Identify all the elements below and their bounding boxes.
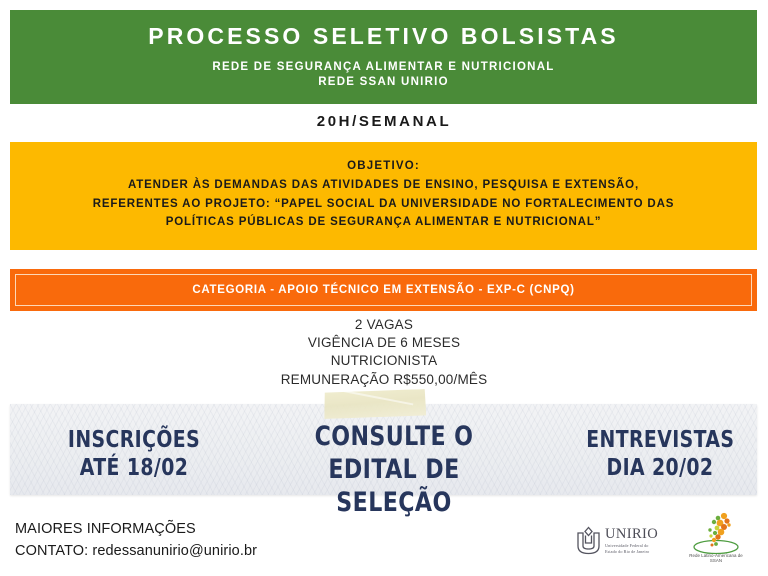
category-inner-frame: CATEGORIA - APOIO TÉCNICO EM EXTENSÃO - … [15,274,752,306]
poster-canvas: PROCESSO SELETIVO BOLSISTAS REDE DE SEGU… [0,0,768,576]
footer-contact-block: MAIORES INFORMAÇÕES CONTATO: redessanuni… [15,519,257,563]
objective-label: OBJETIVO: [347,160,420,172]
consult-notice-line2: EDITAL DE SELEÇÃO [283,454,504,520]
registration-deadline-line1: INSCRIÇÕES [60,426,208,454]
header-subtitle-network: REDE DE SEGURANÇA ALIMENTAR E NUTRICIONA… [212,60,554,76]
footer-contact-email: CONTATO: redessanunirio@unirio.br [15,541,257,563]
detail-duration: VIGÊNCIA DE 6 MESES [0,334,768,352]
category-label: CATEGORIA - APOIO TÉCNICO EM EXTENSÃO - … [192,284,574,296]
objective-band: OBJETIVO: ATENDER ÀS DEMANDAS DAS ATIVID… [10,142,757,250]
header-subtitle-unit: REDE SSAN UNIRIO [318,75,449,91]
details-list: 2 VAGAS VIGÊNCIA DE 6 MESES NUTRICIONIST… [0,316,768,389]
paper-strip-banner: INSCRIÇÕES ATÉ 18/02 CONSULTE O EDITAL D… [10,404,757,495]
south-america-dots-icon [683,511,749,557]
registration-deadline-line2: ATÉ 18/02 [60,454,208,482]
footer-info-label: MAIORES INFORMAÇÕES [15,519,257,541]
ssan-logo-caption: Rede Latino-Americana de SSAN [683,553,749,563]
page-title: PROCESSO SELETIVO BOLSISTAS [148,23,619,51]
unirio-logo: UNIRIO Universidade Federal do Estado do… [575,520,667,562]
unirio-logo-subtitle-line1: Universidade Federal do [605,543,658,549]
interview-date-line1: ENTREVISTAS [586,426,734,454]
workload-label: 20H/SEMANAL [0,113,768,130]
unirio-emblem-icon [575,526,602,556]
objective-body: ATENDER ÀS DEMANDAS DAS ATIVIDADES DE EN… [84,176,684,232]
interview-date-block: ENTREVISTAS DIA 20/02 [586,426,734,482]
ssan-network-logo: Rede Latino-Americana de SSAN [683,511,749,563]
header-band: PROCESSO SELETIVO BOLSISTAS REDE DE SEGU… [10,10,757,104]
unirio-logo-name: UNIRIO [605,527,658,542]
unirio-logo-text: UNIRIO Universidade Federal do Estado do… [605,527,658,555]
consult-notice-line1: CONSULTE O [283,421,504,454]
registration-deadline-block: INSCRIÇÕES ATÉ 18/02 [60,426,208,482]
consult-notice-block: CONSULTE O EDITAL DE SELEÇÃO [283,421,504,520]
category-band: CATEGORIA - APOIO TÉCNICO EM EXTENSÃO - … [10,269,757,311]
interview-date-line2: DIA 20/02 [586,454,734,482]
detail-stipend: REMUNERAÇÃO R$550,00/MÊS [0,371,768,389]
detail-role: NUTRICIONISTA [0,352,768,370]
detail-vacancies: 2 VAGAS [0,316,768,334]
unirio-logo-subtitle-line2: Estado do Rio de Janeiro [605,549,658,555]
masking-tape-icon [324,389,427,419]
